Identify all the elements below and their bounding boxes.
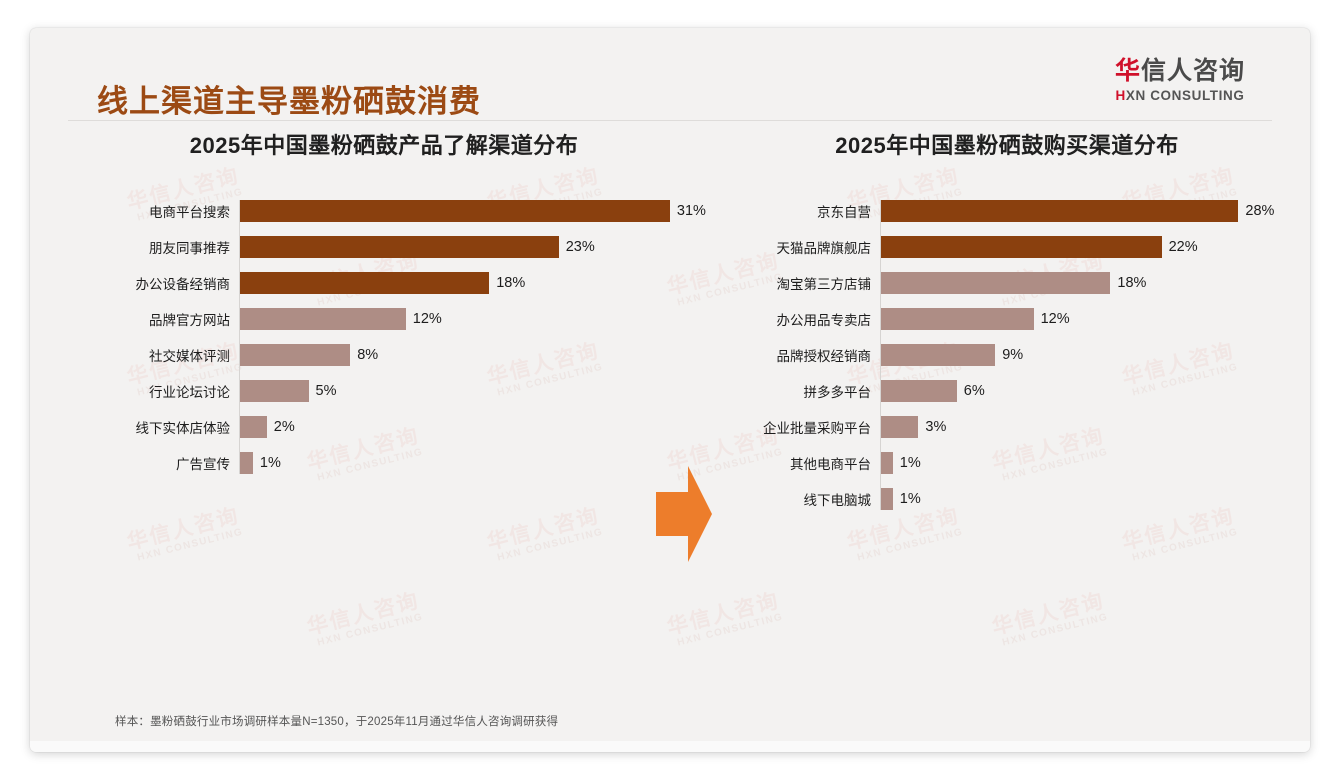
bar-category-label: 线下实体店体验 xyxy=(70,417,239,437)
bar-value-label: 8% xyxy=(357,347,378,363)
bar-row: 线下电脑城1% xyxy=(730,488,1300,510)
y-axis-line-left xyxy=(239,200,240,474)
brand-logo-cn-rest: 信人咨询 xyxy=(1141,57,1245,85)
bar-row: 电商平台搜索31% xyxy=(70,200,670,222)
bar-row: 淘宝第三方店铺18% xyxy=(730,272,1300,294)
bar-value-label: 12% xyxy=(1041,311,1070,327)
bar-value-label: 1% xyxy=(900,455,921,471)
bar xyxy=(239,308,406,330)
bar-track: 28% xyxy=(880,200,1300,222)
bar-row: 社交媒体评测8% xyxy=(70,344,670,366)
bar-row: 拼多多平台6% xyxy=(730,380,1300,402)
bar xyxy=(880,272,1110,294)
bar-track: 6% xyxy=(880,380,1300,402)
bar-value-label: 5% xyxy=(316,383,337,399)
bar-track: 3% xyxy=(880,416,1300,438)
bar xyxy=(880,308,1034,330)
bar-track: 1% xyxy=(880,488,1300,510)
bar-row: 其他电商平台1% xyxy=(730,452,1300,474)
bar-track: 2% xyxy=(239,416,670,438)
brand-logo-en-rest: XN CONSULTING xyxy=(1126,88,1245,103)
bar-row: 办公设备经销商18% xyxy=(70,272,670,294)
bar-row: 品牌授权经销商9% xyxy=(730,344,1300,366)
bar xyxy=(880,236,1162,258)
brand-logo-en: HXN CONSULTING xyxy=(1090,88,1270,103)
bar-value-label: 1% xyxy=(900,491,921,507)
bar xyxy=(239,416,267,438)
bar-row: 京东自营28% xyxy=(730,200,1300,222)
slide-card: 华信人咨询HXN CONSULTING华信人咨询HXN CONSULTING华信… xyxy=(30,28,1310,752)
bar-list-left: 电商平台搜索31%朋友同事推荐23%办公设备经销商18%品牌官方网站12%社交媒… xyxy=(70,200,670,474)
bar-row: 品牌官方网站12% xyxy=(70,308,670,330)
bar xyxy=(239,380,309,402)
bar-value-label: 31% xyxy=(677,203,706,219)
bar-category-label: 行业论坛讨论 xyxy=(70,381,239,401)
slide-footer: ©2026.1 HXR华信人咨询 www.hxrcon.com xyxy=(30,741,1310,752)
bar-value-label: 3% xyxy=(925,419,946,435)
bar-value-label: 12% xyxy=(413,311,442,327)
bar xyxy=(880,380,957,402)
bar-value-label: 23% xyxy=(566,239,595,255)
bar-category-label: 线下电脑城 xyxy=(730,489,880,509)
bar-value-label: 2% xyxy=(274,419,295,435)
bar-row: 行业论坛讨论5% xyxy=(70,380,670,402)
bar-list-right: 京东自营28%天猫品牌旗舰店22%淘宝第三方店铺18%办公用品专卖店12%品牌授… xyxy=(730,200,1300,510)
bar-track: 12% xyxy=(880,308,1300,330)
bar-track: 9% xyxy=(880,344,1300,366)
y-axis-line-right xyxy=(880,200,881,510)
bar-row: 广告宣传1% xyxy=(70,452,670,474)
bar xyxy=(880,488,893,510)
bar-value-label: 22% xyxy=(1169,239,1198,255)
bar-category-label: 品牌官方网站 xyxy=(70,309,239,329)
bar-category-label: 办公用品专卖店 xyxy=(730,309,880,329)
brand-logo-en-accent: H xyxy=(1116,88,1126,103)
bar xyxy=(880,416,918,438)
bar-category-label: 品牌授权经销商 xyxy=(730,345,880,365)
plot-area-right: 京东自营28%天猫品牌旗舰店22%淘宝第三方店铺18%办公用品专卖店12%品牌授… xyxy=(730,200,1300,510)
bar-track: 1% xyxy=(880,452,1300,474)
bar-track: 18% xyxy=(880,272,1300,294)
bar-track: 22% xyxy=(880,236,1300,258)
chart-purchase-channel: 2025年中国墨粉硒鼓购买渠道分布 京东自营28%天猫品牌旗舰店22%淘宝第三方… xyxy=(730,128,1300,524)
brand-logo-cn: 华信人咨询 xyxy=(1090,58,1270,86)
chart-awareness-channel: 2025年中国墨粉硒鼓产品了解渠道分布 电商平台搜索31%朋友同事推荐23%办公… xyxy=(70,128,670,488)
bar xyxy=(239,236,559,258)
charts-container: 2025年中国墨粉硒鼓产品了解渠道分布 电商平台搜索31%朋友同事推荐23%办公… xyxy=(30,128,1310,688)
plot-area-left: 电商平台搜索31%朋友同事推荐23%办公设备经销商18%品牌官方网站12%社交媒… xyxy=(70,200,670,474)
bar-value-label: 18% xyxy=(496,275,525,291)
bar-value-label: 6% xyxy=(964,383,985,399)
bar-category-label: 广告宣传 xyxy=(70,453,239,473)
bar-track: 12% xyxy=(239,308,670,330)
bar-track: 18% xyxy=(239,272,670,294)
bar xyxy=(239,452,253,474)
chart-title-left: 2025年中国墨粉硒鼓产品了解渠道分布 xyxy=(70,128,670,160)
bar xyxy=(880,344,995,366)
bar-value-label: 9% xyxy=(1002,347,1023,363)
chart-title-right: 2025年中国墨粉硒鼓购买渠道分布 xyxy=(730,128,1300,160)
source-footnote: 样本：墨粉硒鼓行业市场调研样本量N=1350，于2025年11月通过华信人咨询调… xyxy=(115,713,558,729)
bar xyxy=(239,344,350,366)
bar-category-label: 企业批量采购平台 xyxy=(730,417,880,437)
bar-track: 5% xyxy=(239,380,670,402)
bar-value-label: 1% xyxy=(260,455,281,471)
page-title: 线上渠道主导墨粉硒鼓消费 xyxy=(97,76,481,121)
bar-category-label: 天猫品牌旗舰店 xyxy=(730,237,880,257)
bar xyxy=(880,452,893,474)
brand-logo: 华信人咨询 HXN CONSULTING xyxy=(1090,58,1270,103)
bar-category-label: 电商平台搜索 xyxy=(70,201,239,221)
bar-category-label: 社交媒体评测 xyxy=(70,345,239,365)
bar-category-label: 其他电商平台 xyxy=(730,453,880,473)
bar-row: 天猫品牌旗舰店22% xyxy=(730,236,1300,258)
bar-category-label: 淘宝第三方店铺 xyxy=(730,273,880,293)
bar-category-label: 朋友同事推荐 xyxy=(70,237,239,257)
bar xyxy=(239,200,670,222)
bar-track: 31% xyxy=(239,200,706,222)
bar-track: 8% xyxy=(239,344,670,366)
bar-row: 企业批量采购平台3% xyxy=(730,416,1300,438)
bar-track: 1% xyxy=(239,452,670,474)
bar-category-label: 拼多多平台 xyxy=(730,381,880,401)
bar-category-label: 京东自营 xyxy=(730,201,880,221)
bar-category-label: 办公设备经销商 xyxy=(70,273,239,293)
bar-value-label: 18% xyxy=(1117,275,1146,291)
bar xyxy=(239,272,489,294)
bar-value-label: 28% xyxy=(1245,203,1274,219)
bar-row: 线下实体店体验2% xyxy=(70,416,670,438)
bar-row: 朋友同事推荐23% xyxy=(70,236,670,258)
bar-row: 办公用品专卖店12% xyxy=(730,308,1300,330)
bar xyxy=(880,200,1238,222)
bar-track: 23% xyxy=(239,236,670,258)
orange-right-arrow-icon xyxy=(652,464,716,564)
slide-header: 线上渠道主导墨粉硒鼓消费 华信人咨询 HXN CONSULTING xyxy=(30,28,1310,120)
brand-logo-cn-accent: 华 xyxy=(1115,57,1141,85)
